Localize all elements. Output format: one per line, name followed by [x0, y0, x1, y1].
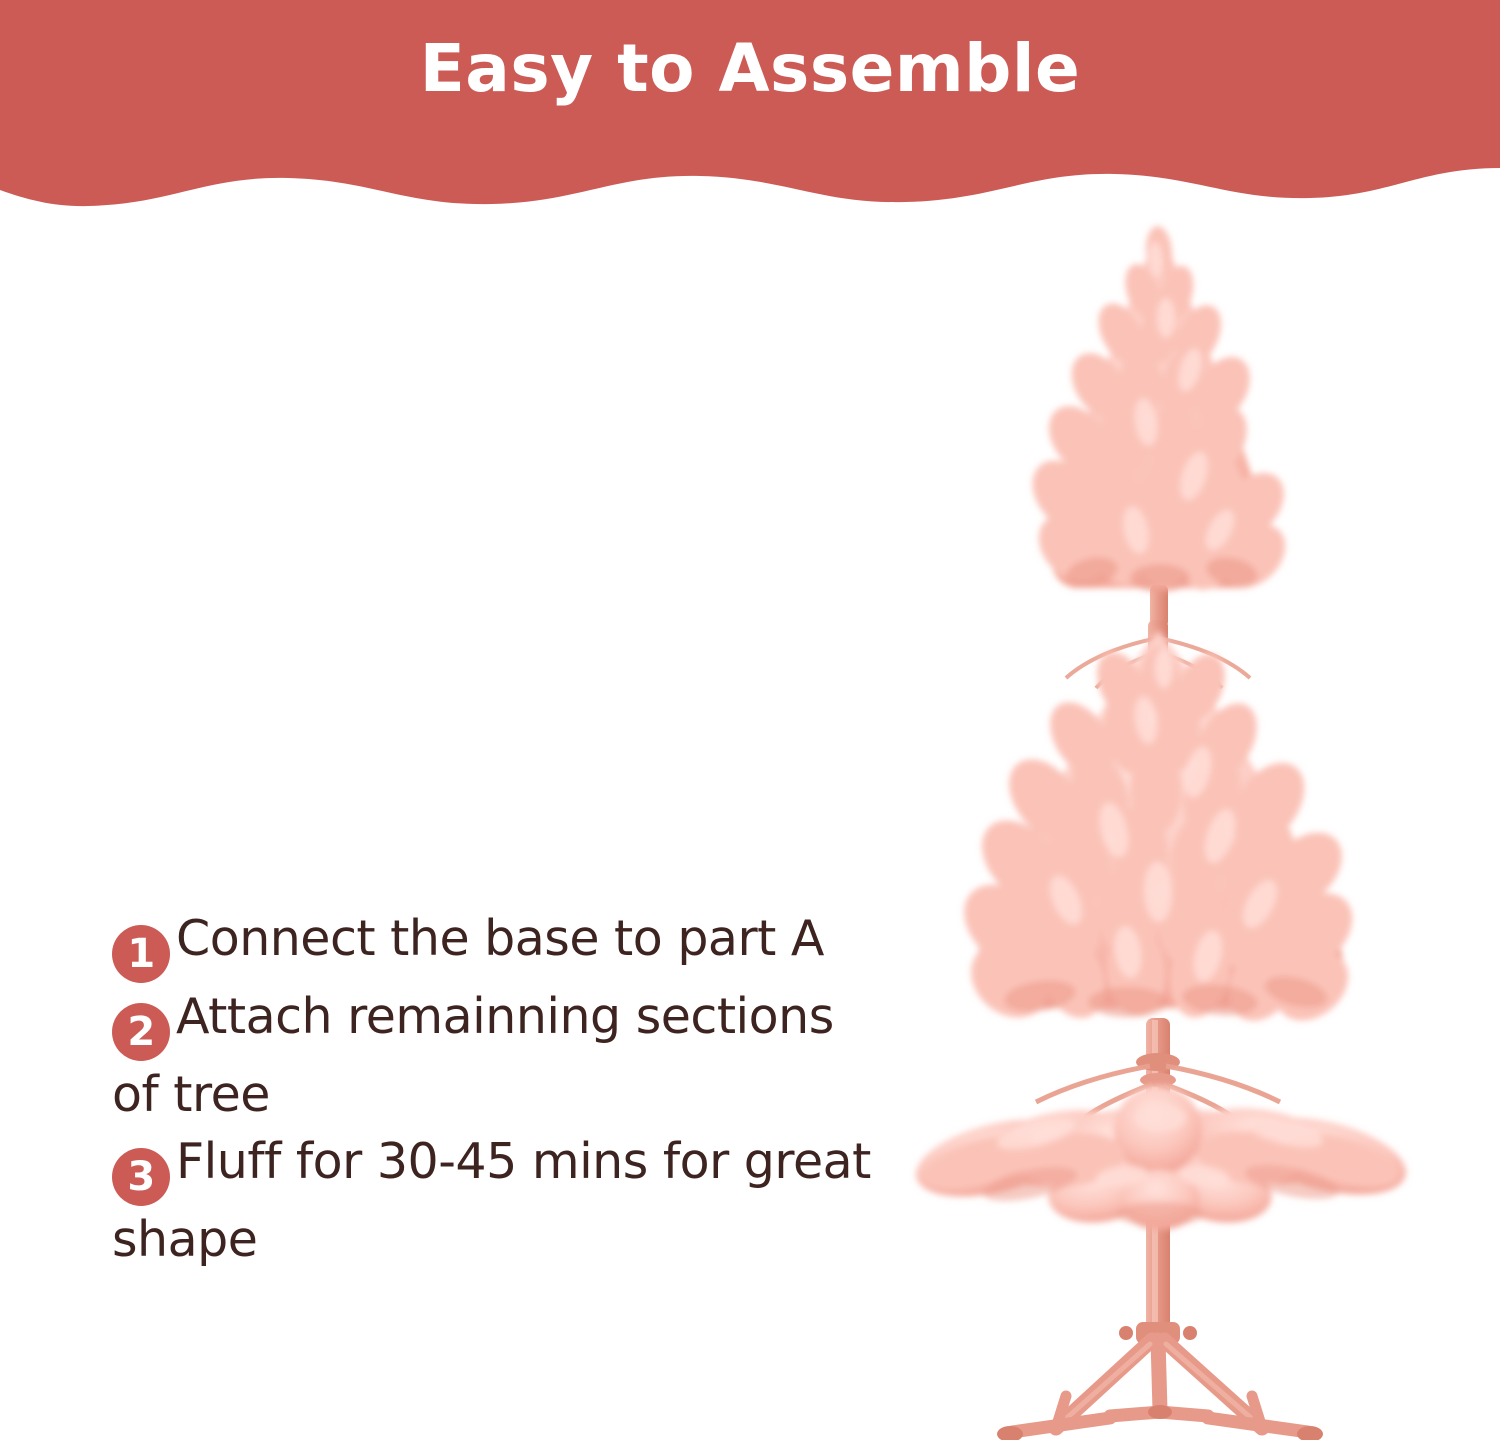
step-number-badge-3: 3	[112, 1148, 170, 1206]
promo-image: Easy to Assemble	[0, 0, 1500, 1448]
list-item: 2Attach remainning sections of tree	[112, 983, 872, 1128]
page-title: Easy to Assemble	[0, 30, 1500, 107]
header-banner: Easy to Assemble	[0, 0, 1500, 232]
tree-bottom-section-with-stand	[908, 1018, 1414, 1440]
tree-graphic	[860, 200, 1480, 1440]
step-text-2: Attach remainning sections of tree	[112, 988, 834, 1123]
assembly-steps-list: 1Connect the base to part A 2Attach rema…	[112, 905, 872, 1273]
list-item: 3Fluff for 30-45 mins for great shape	[112, 1128, 872, 1273]
step-text-3: Fluff for 30-45 mins for great shape	[112, 1133, 871, 1268]
tree-illustration	[860, 200, 1480, 1440]
step-number-badge-2: 2	[112, 1003, 170, 1061]
step-text-1: Connect the base to part A	[176, 910, 824, 967]
tripod-base	[997, 1322, 1323, 1440]
step-number-badge-1: 1	[112, 925, 170, 983]
tree-top-section	[1019, 225, 1298, 627]
list-item: 1Connect the base to part A	[112, 905, 872, 983]
tree-middle-section	[948, 620, 1368, 1035]
